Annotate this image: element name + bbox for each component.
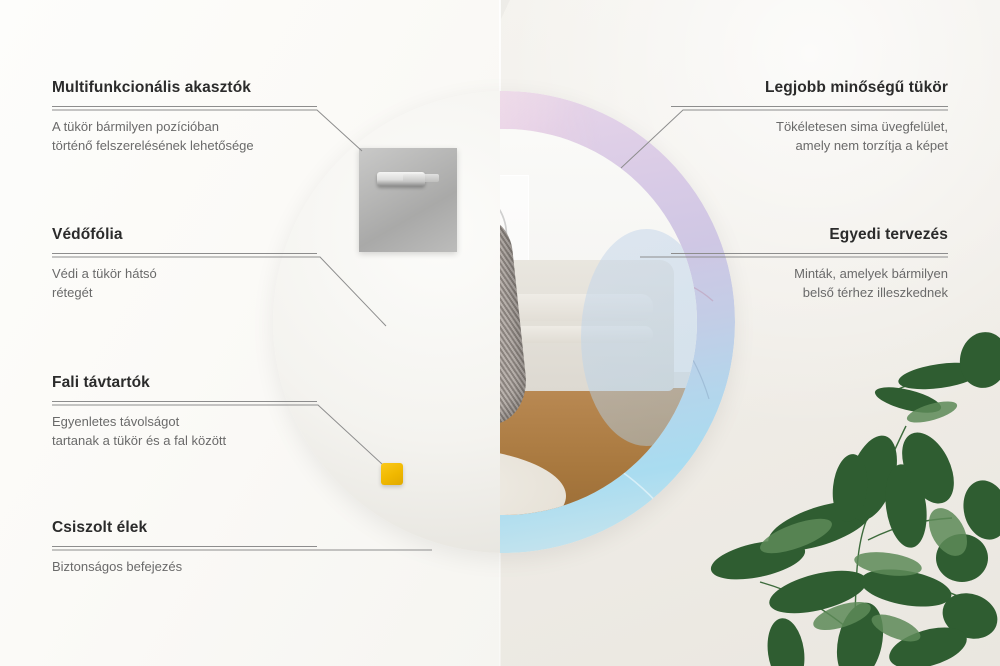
callout-description: Egyenletes távolságot tartanak a tükör é… [52, 413, 317, 451]
callout-title: Fali távtartók [52, 374, 317, 392]
hanger-bracket [359, 148, 457, 252]
callout-rule [52, 401, 317, 402]
callout-best-quality-mirror: Legjobb minőségű tükör Tökéletesen sima … [671, 79, 948, 156]
infographic-canvas: Multifunkcionális akasztók A tükör bármi… [0, 0, 1000, 666]
callout-description: Védi a tükör hátsó rétegét [52, 265, 317, 303]
callout-description: Biztonságos befejezés [52, 558, 317, 577]
callout-title: Védőfólia [52, 226, 317, 244]
callout-polished-edges: Csiszolt élek Biztonságos befejezés [52, 519, 317, 577]
plant-foliage [700, 330, 1000, 666]
callout-description: Tökéletesen sima üvegfelület, amely nem … [671, 118, 948, 156]
callout-wall-spacers: Fali távtartók Egyenletes távolságot tar… [52, 374, 317, 451]
hanger-slot-highlight [403, 174, 439, 182]
round-mirror-product [273, 91, 735, 553]
callout-description: Minták, amelyek bármilyen belső térhez i… [671, 265, 948, 303]
callout-title: Csiszolt élek [52, 519, 317, 537]
callout-protective-film: Védőfólia Védi a tükör hátsó rétegét [52, 226, 317, 303]
callout-rule [671, 106, 948, 107]
callout-rule [52, 106, 317, 107]
callout-unique-design: Egyedi tervezés Minták, amelyek bármilye… [671, 226, 948, 303]
callout-title: Multifunkcionális akasztók [52, 79, 317, 97]
callout-description: A tükör bármilyen pozícióban történő fel… [52, 118, 317, 156]
spacer-pad [381, 463, 403, 485]
callout-title: Egyedi tervezés [671, 226, 948, 244]
callout-rule [52, 546, 317, 547]
callout-title: Legjobb minőségű tükör [671, 79, 948, 97]
callout-rule [671, 253, 948, 254]
callout-rule [52, 253, 317, 254]
callout-multifunctional-hooks: Multifunkcionális akasztók A tükör bármi… [52, 79, 317, 156]
